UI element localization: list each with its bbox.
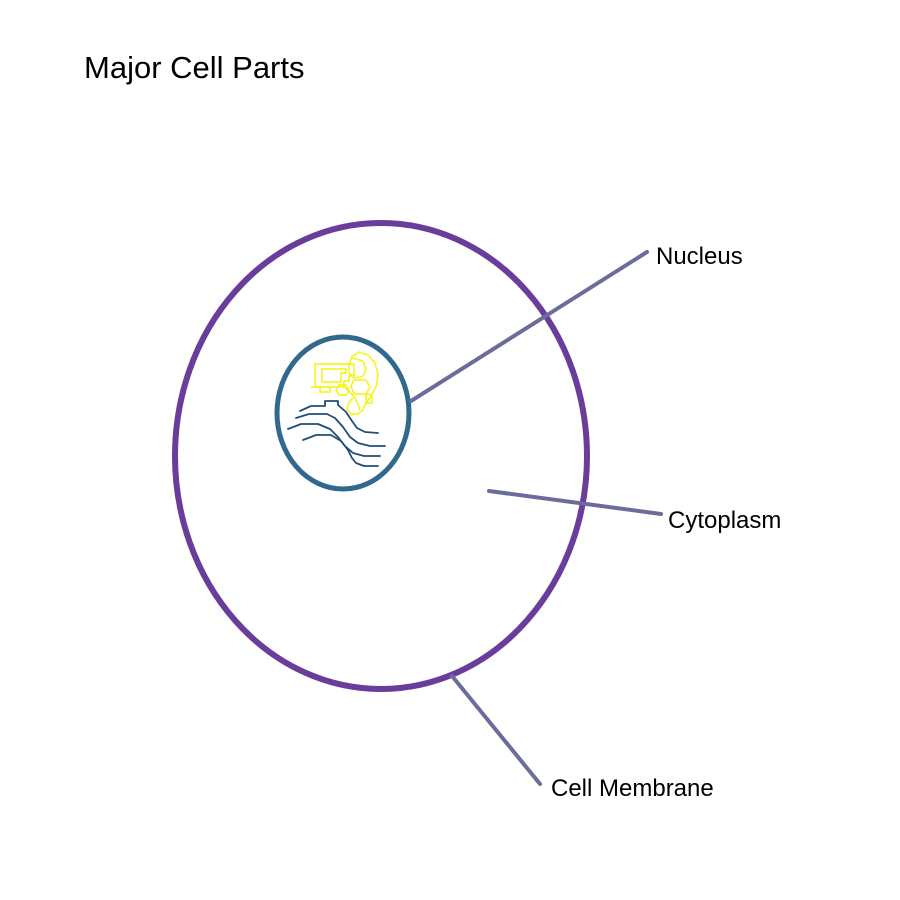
cell-diagram-canvas: Major Cell Parts Nucleus Cytoplasm Cell … [0,0,900,900]
label-cytoplasm[interactable]: Cytoplasm [668,507,781,534]
page-title: Major Cell Parts [84,50,305,85]
nucleus-shape[interactable] [277,337,409,489]
label-nucleus[interactable]: Nucleus [656,243,743,270]
label-cell-membrane[interactable]: Cell Membrane [551,775,714,802]
cell-diagram-root: Major Cell Parts Nucleus Cytoplasm Cell … [0,0,900,900]
